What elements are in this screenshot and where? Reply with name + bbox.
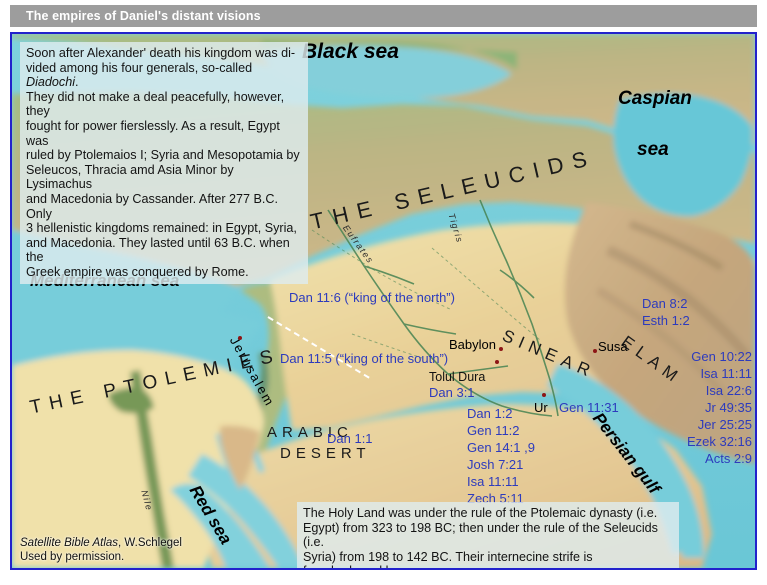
diadochi-line-2: vided among his four generals, so-called… [26, 61, 302, 90]
map-frame[interactable]: Black sea Caspian sea Mediterranean sea … [10, 32, 757, 570]
city-dot-susa [593, 349, 597, 353]
diadochi-line-8: 3 hellenistic kingdoms remained: in Egyp… [26, 221, 302, 236]
page-title: The empires of Daniel's distant visions [26, 9, 261, 23]
city-dot-babylon-secondary [495, 360, 499, 364]
diadochi-line-10: Greek empire was conquered by Rome. [26, 265, 302, 280]
credit-permission: Used by permission. [20, 551, 182, 565]
credit-source-line: Satellite Bible Atlas, W.Schlegel [20, 537, 182, 551]
diadochi-line-6: Seleucos, Thracia amd Asia Minor by Lysi… [26, 163, 302, 192]
diadochi-line-5: ruled by Ptolemaios I; Syria and Mesopot… [26, 148, 302, 163]
holy-land-line-3: Syria) from 198 to 142 BC. Their interne… [303, 550, 673, 570]
diadochi-line-4: fought for power fierslessly. As a resul… [26, 119, 302, 148]
holy-land-line-2: Egypt) from 323 to 198 BC; then under th… [303, 521, 673, 550]
credit-author: , W.Schlegel [118, 537, 182, 549]
diadochi-line-9: and Macedonia. They lasted until 63 B.C.… [26, 236, 302, 265]
diadochi-line-2-text: vided among his four generals, so-called [26, 61, 252, 75]
window-title-bar: The empires of Daniel's distant visions [10, 5, 757, 27]
screenshot-root: The empires of Daniel's distant visions [0, 0, 767, 585]
city-dot-jerusalem [238, 336, 242, 340]
diadochi-info-box: Soon after Alexander' death his kingdom … [20, 42, 308, 284]
diadochi-italic-word: Diadochi [26, 75, 75, 89]
diadochi-italic-tail: . [75, 75, 79, 89]
city-dot-babylon [499, 347, 503, 351]
map-credit: Satellite Bible Atlas, W.Schlegel Used b… [20, 537, 182, 564]
credit-atlas-name: Satellite Bible Atlas [20, 537, 118, 549]
diadochi-line-3: They did not make a deal peacefully, how… [26, 90, 302, 119]
holy-land-info-box: The Holy Land was under the rule of the … [297, 502, 679, 570]
holy-land-line-1: The Holy Land was under the rule of the … [303, 506, 673, 521]
city-dot-ur [542, 393, 546, 397]
diadochi-line-7: and Macedonia by Cassander. After 277 B.… [26, 192, 302, 221]
diadochi-line-1: Soon after Alexander' death his kingdom … [26, 46, 302, 61]
